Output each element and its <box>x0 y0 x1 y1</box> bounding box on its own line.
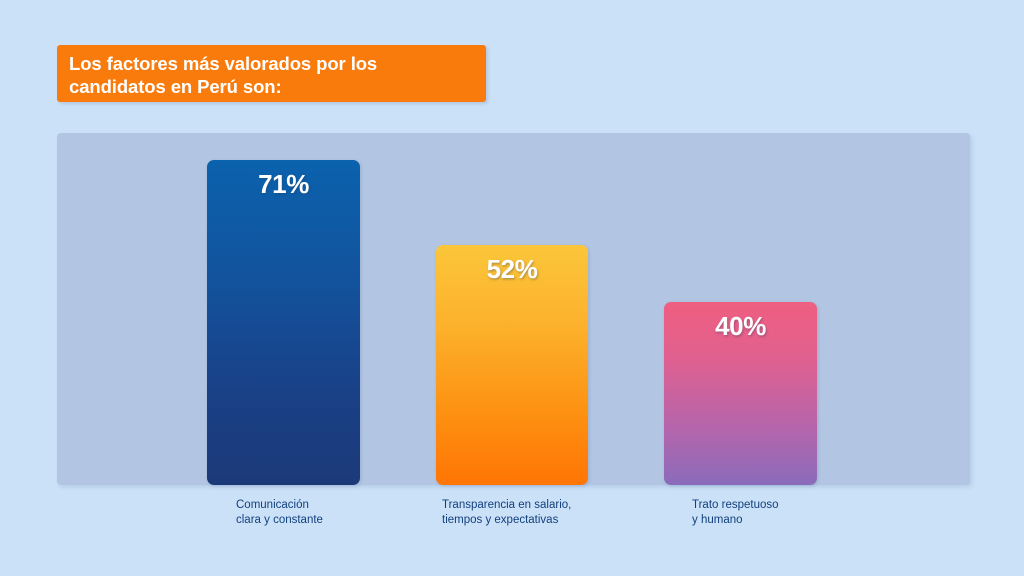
bar-comunicacion: 71% <box>207 160 360 485</box>
category-label-comunicacion: Comunicación clara y constante <box>236 498 323 528</box>
bar-value-0: 71% <box>207 169 360 200</box>
bar-trato-respetuoso: 40% <box>664 302 817 485</box>
bar-value-2: 40% <box>664 311 817 342</box>
category-label-transparencia: Transparencia en salario, tiempos y expe… <box>442 498 571 528</box>
title-line-2: candidatos en Perú son: <box>69 75 486 98</box>
bar-value-1: 52% <box>436 254 588 285</box>
chart-panel: 71% 52% 40% <box>57 133 970 485</box>
category-label-trato-respetuoso: Trato respetuoso y humano <box>692 498 779 528</box>
title-line-1: Los factores más valorados por los <box>69 52 486 75</box>
title-banner: Los factores más valorados por los candi… <box>57 45 486 102</box>
bar-transparencia: 52% <box>436 245 588 485</box>
